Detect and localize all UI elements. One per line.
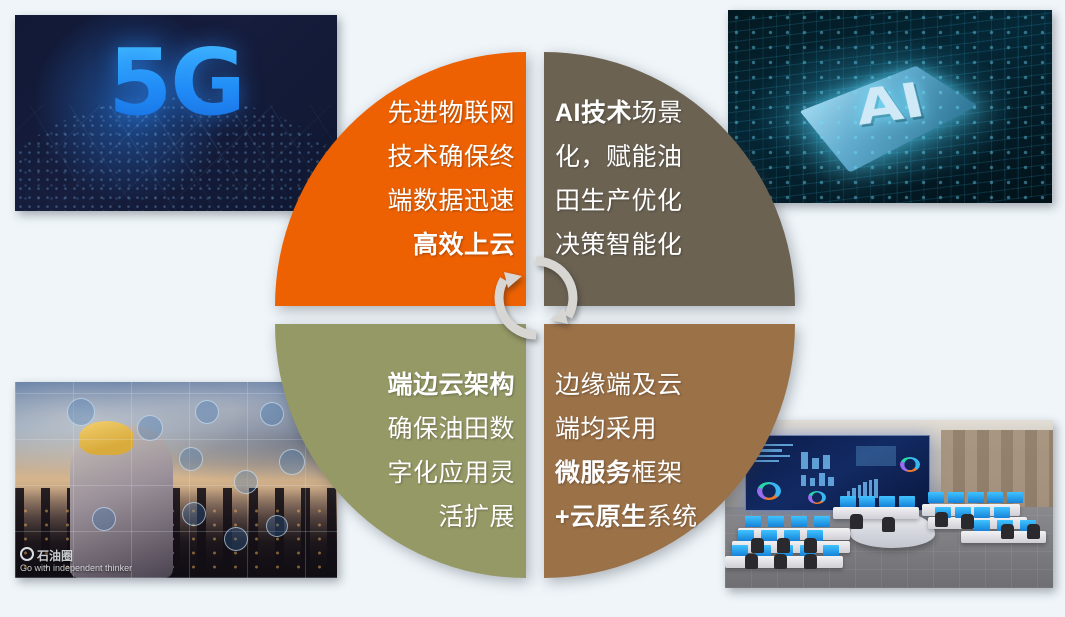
desk-row [833, 507, 918, 519]
quadrant-circle-diagram: 先进物联网 技术确保终 端数据迅速 高效上云 AI技术场景 化，赋能油 田生产优… [275, 52, 795, 578]
quadrant-line-suffix: 系统 [647, 503, 698, 531]
quadrant-edge-cloud-architecture[interactable]: 端边云架构 确保油田数 字化应用灵 活扩展 [275, 324, 526, 578]
iot-node-icon [182, 502, 206, 526]
watermark-en: Go with independent thinker [20, 563, 132, 574]
quadrant-line-bold: 微服务 [555, 459, 632, 487]
iot-node-icon [67, 398, 95, 426]
quadrant-ai-technology[interactable]: AI技术场景 化，赋能油 田生产优化 决策智能化 [544, 52, 795, 306]
quadrant-line: 决策智能化 [555, 223, 683, 267]
watermark-cn: 石油圈 [37, 549, 73, 563]
quadrant-line-emphasis: 端边云架构 [387, 363, 515, 407]
quadrant-microservice-cloudnative[interactable]: 边缘端及云 端均采用 微服务框架 +云原生系统 [544, 324, 795, 578]
iot-node-icon [234, 470, 258, 494]
iot-node-icon [195, 400, 219, 424]
quadrant-line: 技术确保终 [387, 135, 515, 179]
quadrant-line: 化，赋能油 [555, 135, 683, 179]
quadrant-line-emphasis: AI技术场景 [555, 91, 683, 135]
watermark-ring-icon [20, 547, 34, 561]
photo-watermark: 石油圈 Go with independent thinker [20, 547, 132, 574]
iot-node-icon [179, 447, 203, 471]
quadrant-line-suffix: 场景 [632, 99, 683, 127]
quadrant-line-bold: 端边云架构 [387, 371, 515, 399]
quadrant-line-bold: 高效上云 [413, 231, 515, 259]
quadrant-line-bold: AI技术 [555, 99, 632, 127]
diagram-canvas: 5G AI [0, 0, 1065, 617]
quadrant-line-emphasis: 微服务框架 [555, 451, 683, 495]
quadrant-line: 端数据迅速 [387, 179, 515, 223]
quadrant-line-emphasis: +云原生系统 [555, 495, 698, 539]
quadrant-line-emphasis: 高效上云 [413, 223, 515, 267]
quadrant-line: 田生产优化 [555, 179, 683, 223]
quadrant-line: 字化应用灵 [387, 451, 515, 495]
quadrant-line: 活扩展 [438, 495, 515, 539]
quadrant-advanced-iot[interactable]: 先进物联网 技术确保终 端数据迅速 高效上云 [275, 52, 526, 306]
quadrant-line: 端均采用 [555, 407, 657, 451]
quadrant-line-suffix: 框架 [632, 459, 683, 487]
quadrant-line: 边缘端及云 [555, 363, 683, 407]
quadrant-line: 确保油田数 [387, 407, 515, 451]
quadrant-line-bold: +云原生 [555, 503, 647, 531]
quadrant-line: 先进物联网 [387, 91, 515, 135]
